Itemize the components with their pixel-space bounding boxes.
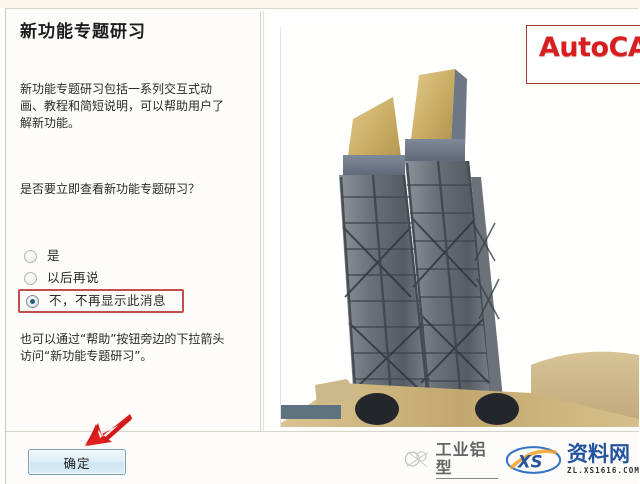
new-features-workshop-dialog: 新功能专题研习 新功能专题研习包括一系列交互式动画、教程和简短说明，可以帮助用户… [5, 8, 638, 484]
xs-logo-icon: XS [505, 443, 562, 477]
radio-option-never-show[interactable]: 不，不再显示此消息 [18, 289, 184, 313]
watermark-site-block: 资料网 ZL.XS1616.COM [567, 444, 640, 476]
horizontal-divider [6, 431, 639, 432]
radio-option-label: 以后再说 [47, 271, 99, 285]
intro-paragraph: 新功能专题研习包括一系列交互式动画、教程和简短说明，可以帮助用户了解新功能。 [20, 81, 235, 132]
vertical-divider-inner [263, 11, 264, 431]
radio-option-later[interactable]: 以后再说 [20, 267, 240, 289]
radio-circle-icon [24, 272, 37, 285]
radio-option-yes[interactable]: 是 [20, 245, 240, 267]
top-background-strip [0, 0, 640, 8]
radio-circle-icon [24, 250, 37, 263]
watermark-site-url: ZL.XS1616.COM [567, 466, 640, 476]
dialog-left-pane: 新功能专题研习 [6, 9, 260, 430]
artwork-frame [280, 27, 639, 427]
watermark-site-name: 资料网 [567, 444, 630, 465]
display-choice-radio-group: 是 以后再说 不，不再显示此消息 [20, 245, 240, 313]
watermark-badge-icon [404, 447, 432, 473]
site-watermark: 工业铝型 XS 资料网 ZL.XS1616.COM [404, 441, 640, 479]
screenshot-root: 新功能专题研习 新功能专题研习包括一系列交互式动画、教程和简短说明，可以帮助用户… [0, 0, 640, 484]
dialog-title: 新功能专题研习 [20, 19, 246, 45]
autocad-logo-text: AutoCA [539, 32, 640, 63]
svg-text:XS: XS [517, 452, 543, 471]
question-paragraph: 是否要立即查看新功能专题研习？ [20, 181, 235, 198]
radio-circle-selected-icon [26, 295, 39, 308]
autocad-logo-box: AutoCA [526, 25, 640, 84]
radio-option-label: 是 [47, 249, 60, 263]
tower-illustration [281, 27, 639, 427]
hint-paragraph: 也可以通过“帮助”按钮旁边的下拉箭头访问“新功能专题研习”。 [20, 331, 232, 365]
ok-button[interactable]: 确定 [28, 449, 126, 475]
watermark-brand-label: 工业铝型 [436, 441, 498, 479]
radio-option-label: 不，不再显示此消息 [49, 294, 166, 308]
vertical-divider [260, 11, 261, 431]
